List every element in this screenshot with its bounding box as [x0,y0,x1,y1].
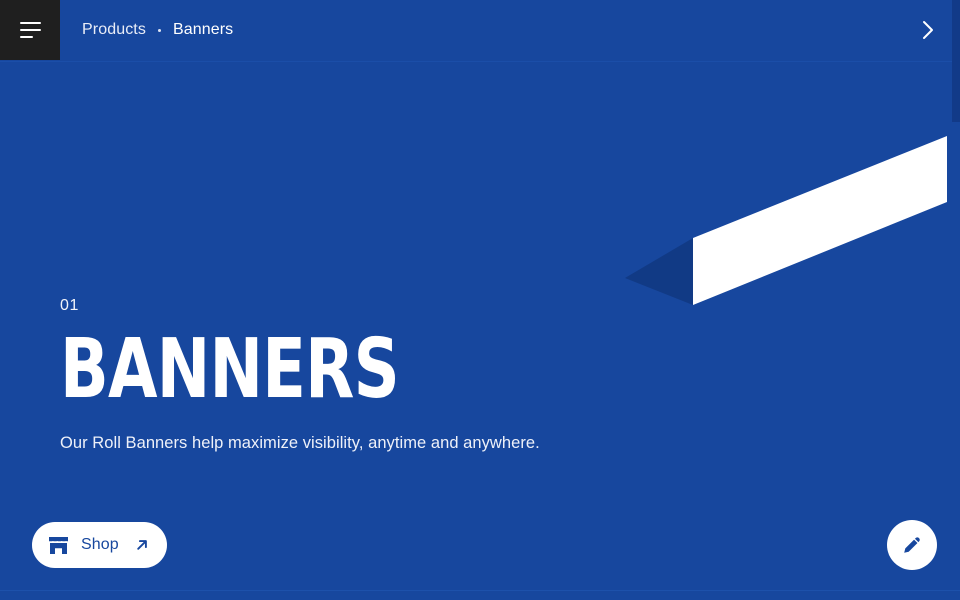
hero-subtitle: Our Roll Banners help maximize visibilit… [60,432,700,456]
top-header-bar: Products Banners [0,0,960,62]
chevron-right-icon [921,19,935,41]
pencil-edit-icon [900,533,924,557]
roll-banner-illustration [600,62,960,322]
shop-button[interactable]: Shop [32,522,167,568]
vertical-scrollbar[interactable] [952,0,960,600]
hero-index-number: 01 [60,298,700,314]
hamburger-menu-icon-line-1 [20,22,41,24]
hero-section: 01 BANNERS Our Roll Banners help maximiz… [0,62,960,600]
breadcrumb-item-products[interactable]: Products [82,21,146,39]
header-spacer [233,0,906,61]
hamburger-menu-icon-line-3 [20,36,33,38]
bottom-divider [0,590,960,591]
edit-floating-action-button[interactable] [887,520,937,570]
hamburger-menu-button[interactable] [0,0,60,60]
hamburger-menu-icon-line-2 [20,29,41,31]
banner-base-shadow [625,238,693,305]
banner-face [693,136,947,305]
hero-text-block: 01 BANNERS Our Roll Banners help maximiz… [60,298,700,456]
next-page-button[interactable] [906,0,950,60]
shop-button-label: Shop [81,536,119,554]
breadcrumb: Products Banners [82,0,233,60]
scrollbar-thumb[interactable] [952,0,960,122]
arrow-up-right-icon [135,538,149,552]
breadcrumb-separator-dot [158,29,161,32]
storefront-icon [48,536,69,555]
breadcrumb-item-banners[interactable]: Banners [173,21,233,39]
page-title: BANNERS [60,334,559,406]
